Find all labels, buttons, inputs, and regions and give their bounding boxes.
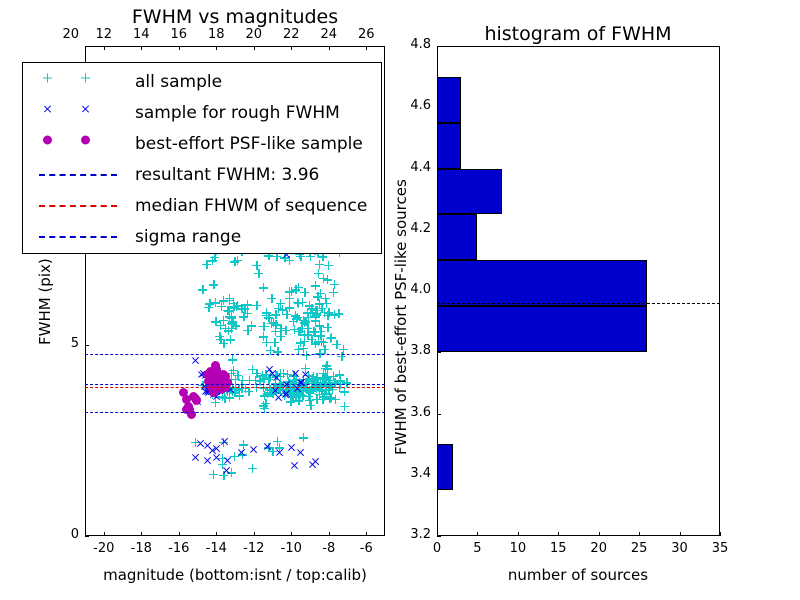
tick-label: 14: [133, 27, 150, 42]
data-point-rough-sample: [301, 370, 310, 379]
median-fhwm-line: [85, 387, 385, 388]
legend-line: [39, 174, 117, 176]
tick: [141, 532, 142, 536]
tick-label: 20: [62, 27, 79, 42]
data-point-all-sample: [285, 294, 294, 303]
tick-label: 12: [95, 27, 112, 42]
tick-label: 5: [71, 336, 79, 351]
data-point-rough-sample: [222, 466, 231, 475]
data-point-rough-sample: [282, 389, 291, 398]
right-panel-title: histogram of FWHM: [484, 23, 671, 45]
data-point-rough-sample: [191, 453, 200, 462]
data-point-all-sample: [278, 305, 287, 314]
data-point-all-sample: [339, 345, 348, 354]
legend-marker-plus: [81, 73, 90, 82]
legend-label: sample for rough FWHM: [135, 103, 340, 123]
tick-label: 3.8: [410, 343, 431, 358]
data-point-rough-sample: [223, 456, 232, 465]
data-point-all-sample: [229, 299, 238, 308]
left-yaxis-label: FWHM (pix): [36, 258, 54, 345]
sigma-lower-line: [85, 412, 385, 413]
data-point-rough-sample: [291, 369, 300, 378]
data-point-all-sample: [327, 393, 336, 402]
tick-label: 24: [320, 27, 337, 42]
tick: [85, 536, 89, 537]
data-point-all-sample: [318, 374, 327, 383]
tick-label: 16: [170, 27, 187, 42]
legend-item: resultant FWHM: 3.96: [23, 160, 381, 190]
tick-label: 20: [590, 541, 607, 556]
data-point-all-sample: [248, 464, 257, 473]
legend-label: resultant FWHM: 3.96: [135, 165, 319, 185]
tick: [437, 46, 441, 47]
data-point-all-sample: [252, 261, 261, 270]
data-point-rough-sample: [296, 448, 305, 457]
legend-label: median FHWM of sequence: [135, 196, 367, 216]
tick-label: -10: [281, 541, 302, 556]
tick: [366, 532, 367, 536]
data-point-psf-sample: [191, 394, 200, 403]
data-point-rough-sample: [203, 441, 212, 450]
data-point-all-sample: [324, 308, 333, 317]
data-point-all-sample: [219, 339, 228, 348]
legend-marker-ex: [81, 104, 90, 113]
legend-label: sigma range: [135, 227, 241, 247]
data-point-rough-sample: [249, 445, 258, 454]
tick: [141, 46, 142, 50]
data-point-rough-sample: [263, 442, 272, 451]
data-point-all-sample: [306, 401, 315, 410]
tick: [680, 532, 681, 536]
data-point-all-sample: [259, 332, 268, 341]
tick-label: 20: [245, 27, 262, 42]
data-point-all-sample: [230, 257, 239, 266]
legend-item: best-effort PSF-like sample: [23, 129, 381, 159]
tick: [437, 352, 441, 353]
histogram-bar: [437, 123, 461, 169]
histogram-bar: [437, 444, 453, 490]
tick: [179, 532, 180, 536]
data-point-all-sample: [281, 326, 290, 335]
tick: [216, 46, 217, 50]
tick: [477, 532, 478, 536]
tick-label: 4.4: [410, 160, 431, 175]
data-point-all-sample: [252, 369, 261, 378]
tick-label: 5: [473, 541, 481, 556]
tick-label: 3.4: [410, 466, 431, 481]
tick-label: 15: [550, 541, 567, 556]
right-xaxis-label: number of sources: [508, 566, 648, 584]
data-point-all-sample: [254, 269, 263, 278]
tick-label: 4.2: [410, 221, 431, 236]
histogram-bar: [437, 169, 502, 215]
legend-item: all sample: [23, 67, 381, 97]
legend-label: best-effort PSF-like sample: [135, 134, 363, 154]
tick: [104, 532, 105, 536]
tick: [437, 536, 441, 537]
data-point-all-sample: [295, 327, 304, 336]
histogram-resultant-line: [437, 303, 720, 304]
tick-label: -20: [93, 541, 114, 556]
legend-item: sample for rough FWHM: [23, 98, 381, 128]
tick-label: 18: [208, 27, 225, 42]
data-point-all-sample: [334, 309, 343, 318]
data-point-all-sample: [243, 326, 252, 335]
tick: [366, 46, 367, 50]
tick-label: 3.2: [410, 527, 431, 542]
data-point-all-sample: [330, 280, 339, 289]
data-point-all-sample: [315, 260, 324, 269]
data-point-all-sample: [323, 364, 332, 373]
data-point-rough-sample: [212, 444, 221, 453]
data-point-all-sample: [231, 321, 240, 330]
data-point-rough-sample: [265, 365, 274, 374]
tick-label: 0: [433, 541, 441, 556]
data-point-all-sample: [237, 304, 246, 313]
tick: [329, 532, 330, 536]
data-point-all-sample: [259, 283, 268, 292]
tick-label: 4.0: [410, 282, 431, 297]
data-point-all-sample: [229, 366, 238, 375]
resultant-fwhm-line: [85, 384, 385, 385]
tick-label: 10: [510, 541, 527, 556]
tick-label: 0: [71, 527, 79, 542]
data-point-all-sample: [305, 301, 314, 310]
data-point-rough-sample: [191, 356, 200, 365]
tick: [720, 532, 721, 536]
data-point-all-sample: [329, 288, 338, 297]
data-point-all-sample: [211, 298, 220, 307]
data-point-rough-sample: [203, 456, 212, 465]
tick-label: -8: [322, 541, 335, 556]
tick-label: -14: [206, 541, 227, 556]
sigma-upper-line: [85, 354, 385, 355]
data-point-rough-sample: [290, 461, 299, 470]
data-point-all-sample: [321, 294, 330, 303]
tick: [254, 532, 255, 536]
tick: [518, 532, 519, 536]
histogram-bar: [437, 214, 477, 260]
data-point-rough-sample: [220, 437, 229, 446]
tick-label: -18: [131, 541, 152, 556]
tick: [179, 46, 180, 50]
tick: [558, 532, 559, 536]
data-point-all-sample: [311, 281, 320, 290]
data-point-rough-sample: [287, 443, 296, 452]
tick: [599, 532, 600, 536]
tick-label: 26: [358, 27, 375, 42]
legend-label: all sample: [135, 72, 222, 92]
left-xaxis-label: magnitude (bottom:isnt / top:calib): [103, 566, 367, 584]
tick: [254, 46, 255, 50]
tick: [216, 532, 217, 536]
data-point-all-sample: [259, 401, 268, 410]
data-point-all-sample: [294, 299, 303, 308]
tick-label: 25: [631, 541, 648, 556]
legend: all samplesample for rough FWHMbest-effo…: [22, 62, 382, 254]
data-point-all-sample: [198, 285, 207, 294]
data-point-all-sample: [340, 402, 349, 411]
data-point-all-sample: [228, 355, 237, 364]
tick-label: -16: [168, 541, 189, 556]
histogram-bar: [437, 260, 647, 306]
legend-line: [39, 205, 117, 207]
legend-marker-dot: [43, 135, 52, 144]
tick: [85, 345, 89, 346]
right-yaxis-label: FWHM of best-effort PSF-like sources: [392, 179, 410, 455]
tick-label: 35: [712, 541, 729, 556]
data-point-all-sample: [209, 280, 218, 289]
tick-label: 22: [283, 27, 300, 42]
tick: [639, 532, 640, 536]
tick-label: 30: [671, 541, 688, 556]
legend-marker-ex: [43, 104, 52, 113]
tick-label: 4.6: [410, 98, 431, 113]
legend-item: median FHWM of sequence: [23, 191, 381, 221]
data-point-rough-sample: [311, 457, 320, 466]
data-point-all-sample: [300, 288, 309, 297]
tick: [291, 46, 292, 50]
histogram-bar: [437, 77, 461, 123]
tick-label: -6: [360, 541, 373, 556]
histogram-bar: [437, 306, 647, 352]
data-point-all-sample: [326, 334, 335, 343]
data-point-all-sample: [202, 260, 211, 269]
data-point-all-sample: [260, 322, 269, 331]
data-point-all-sample: [211, 317, 220, 326]
data-point-rough-sample: [237, 448, 246, 457]
tick-label: -12: [243, 541, 264, 556]
tick: [329, 46, 330, 50]
data-point-all-sample: [267, 294, 276, 303]
data-point-all-sample: [294, 345, 303, 354]
legend-marker-dot: [81, 135, 90, 144]
data-point-all-sample: [307, 335, 316, 344]
legend-marker-plus: [43, 73, 52, 82]
data-point-all-sample: [319, 274, 328, 283]
tick: [291, 532, 292, 536]
data-point-all-sample: [299, 433, 308, 442]
data-point-rough-sample: [275, 448, 284, 457]
data-point-all-sample: [252, 301, 261, 310]
legend-line: [39, 236, 117, 238]
tick-label: 4.8: [410, 37, 431, 52]
tick-label: 3.6: [410, 405, 431, 420]
data-point-all-sample: [311, 316, 320, 325]
tick: [104, 46, 105, 50]
data-point-all-sample: [209, 470, 218, 479]
data-point-all-sample: [291, 311, 300, 320]
figure: FWHM vs magnitudes magnitude (bottom:isn…: [0, 0, 800, 600]
data-point-all-sample: [324, 261, 333, 270]
legend-item: sigma range: [23, 222, 381, 252]
tick: [437, 414, 441, 415]
data-point-all-sample: [301, 317, 310, 326]
left-panel-title: FWHM vs magnitudes: [132, 6, 338, 28]
